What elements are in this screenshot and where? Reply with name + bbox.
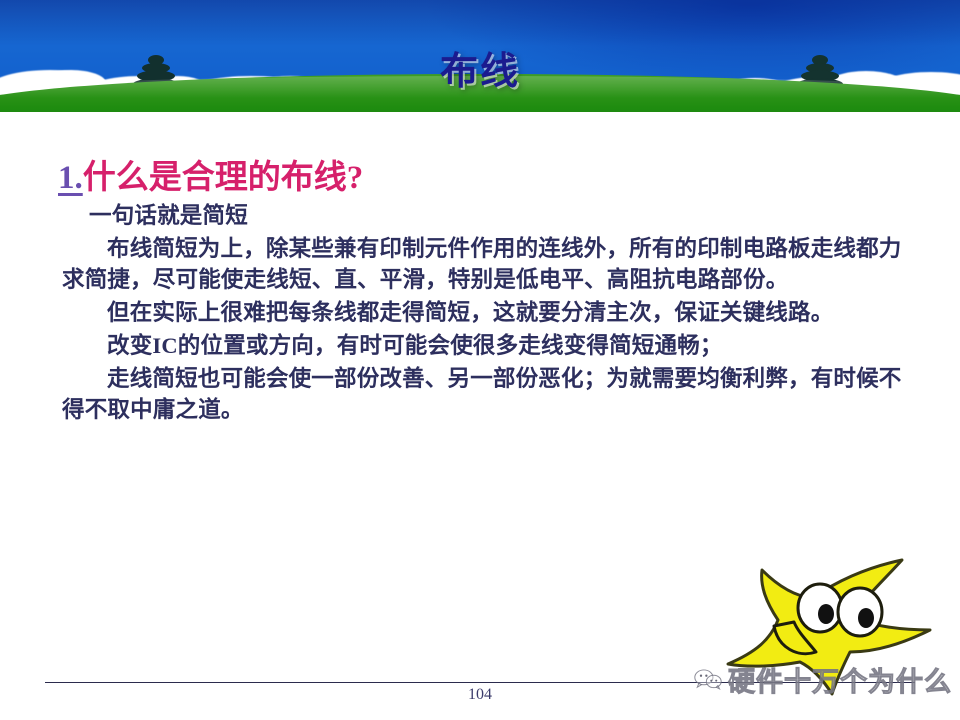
body-text-block: 一句话就是简短 布线简短为上，除某些兼有印制元件作用的连线外，所有的印制电路板走…	[62, 200, 902, 427]
section-heading-number: 1.	[58, 160, 83, 196]
section-heading: 1.什么是合理的布线?	[58, 150, 363, 198]
section-heading-text: 什么是合理的布线?	[83, 160, 364, 196]
slide-title: 布线	[0, 40, 960, 95]
paragraph-4: 改变IC的位置或方向，有时可能会使很多走线变得简短通畅；	[62, 330, 902, 361]
paragraph-5: 走线简短也可能会使一部份改善、另一部份恶化；为就需要均衡利弊，有时候不得不取中庸…	[62, 363, 902, 425]
paragraph-1: 一句话就是简短	[62, 200, 902, 231]
smiling-star-icon	[716, 556, 948, 696]
paragraph-2: 布线简短为上，除某些兼有印制元件作用的连线外，所有的印制电路板走线都力求简捷，尽…	[62, 233, 902, 295]
slide-header-banner: 布线	[0, 0, 960, 112]
paragraph-3: 但在实际上很难把每条线都走得简短，这就要分清主次，保证关键线路。	[62, 297, 902, 328]
